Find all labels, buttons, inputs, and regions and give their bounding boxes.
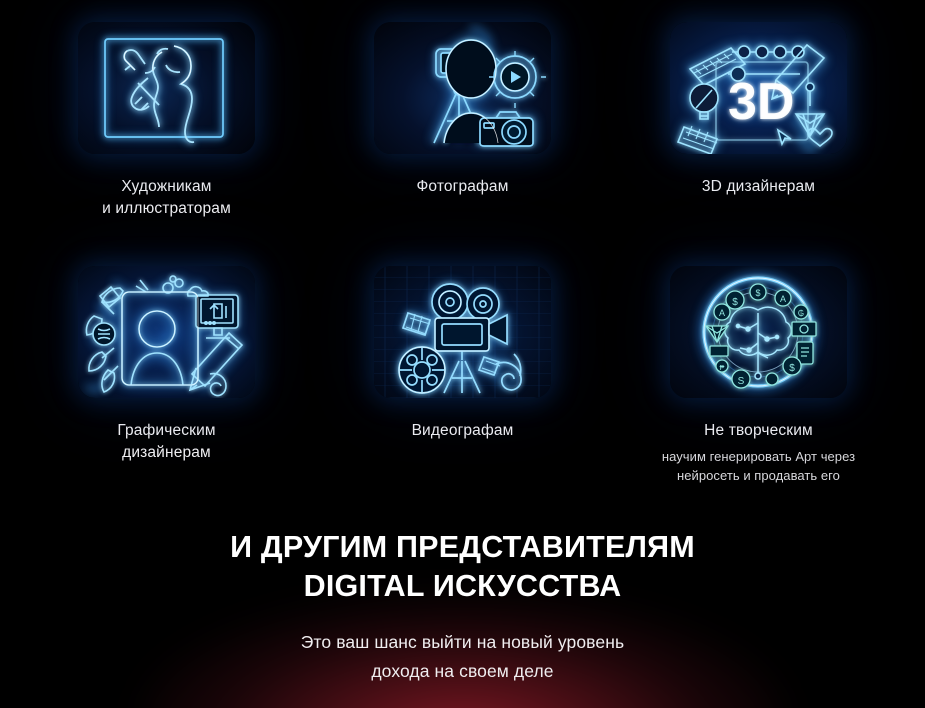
card-label: Художникам и иллюстраторам bbox=[102, 176, 231, 220]
section-headline: И ДРУГИМ ПРЕДСТАВИТЕЛЯМ DIGITAL ИСКУССТВ… bbox=[0, 528, 925, 607]
landing-section: Художникам и иллюстраторам bbox=[0, 0, 925, 708]
svg-text:3D: 3D bbox=[728, 73, 794, 131]
artist-painting-neon-icon bbox=[78, 22, 255, 154]
card-label: 3D дизайнерам bbox=[702, 176, 815, 198]
section-tagline: Это ваш шанс выйти на новый уровень дохо… bbox=[0, 628, 925, 685]
audience-card-graphic-designers[interactable]: Графическим дизайнерам bbox=[19, 220, 315, 464]
svg-text:$: $ bbox=[755, 288, 760, 298]
svg-text:$: $ bbox=[789, 363, 795, 374]
ai-brain-money-circle-neon-icon: $ A ₲ bbox=[670, 266, 847, 398]
svg-text:A: A bbox=[719, 308, 725, 318]
svg-text:₱: ₱ bbox=[720, 365, 725, 372]
card-sublabel: научим генерировать Арт через нейросеть … bbox=[662, 448, 855, 486]
svg-text:₲: ₲ bbox=[798, 309, 804, 318]
3d-designer-neon-icon: 3D bbox=[670, 22, 847, 154]
svg-text:$: $ bbox=[732, 297, 738, 308]
card-label: Графическим дизайнерам bbox=[117, 420, 215, 464]
card-row-1: Художникам и иллюстраторам bbox=[0, 0, 925, 220]
card-image-frame bbox=[374, 22, 551, 154]
card-image-frame bbox=[78, 266, 255, 398]
card-image-frame: $ A ₲ bbox=[670, 266, 847, 398]
card-label: Фотографам bbox=[416, 176, 508, 198]
svg-text:S: S bbox=[738, 376, 745, 387]
videographer-movie-camera-neon-icon bbox=[374, 266, 551, 398]
graphic-designer-tablet-pen-neon-icon bbox=[78, 266, 255, 398]
svg-text:A: A bbox=[780, 294, 786, 304]
audience-card-3d-designers[interactable]: 3D bbox=[611, 0, 907, 198]
card-image-frame bbox=[78, 22, 255, 154]
photographer-tripod-camera-neon-icon bbox=[374, 22, 551, 154]
card-row-2: Графическим дизайнерам bbox=[0, 220, 925, 486]
card-image-frame bbox=[374, 266, 551, 398]
card-label: Не творческим bbox=[704, 420, 813, 442]
audience-card-non-creatives[interactable]: $ A ₲ bbox=[611, 220, 907, 486]
audience-card-grid: Художникам и иллюстраторам bbox=[0, 0, 925, 486]
card-image-frame: 3D bbox=[670, 22, 847, 154]
audience-card-artists[interactable]: Художникам и иллюстраторам bbox=[19, 0, 315, 220]
audience-card-photographers[interactable]: Фотографам bbox=[315, 0, 611, 198]
audience-card-videographers[interactable]: Видеографам bbox=[315, 220, 611, 442]
card-label: Видеографам bbox=[412, 420, 514, 442]
